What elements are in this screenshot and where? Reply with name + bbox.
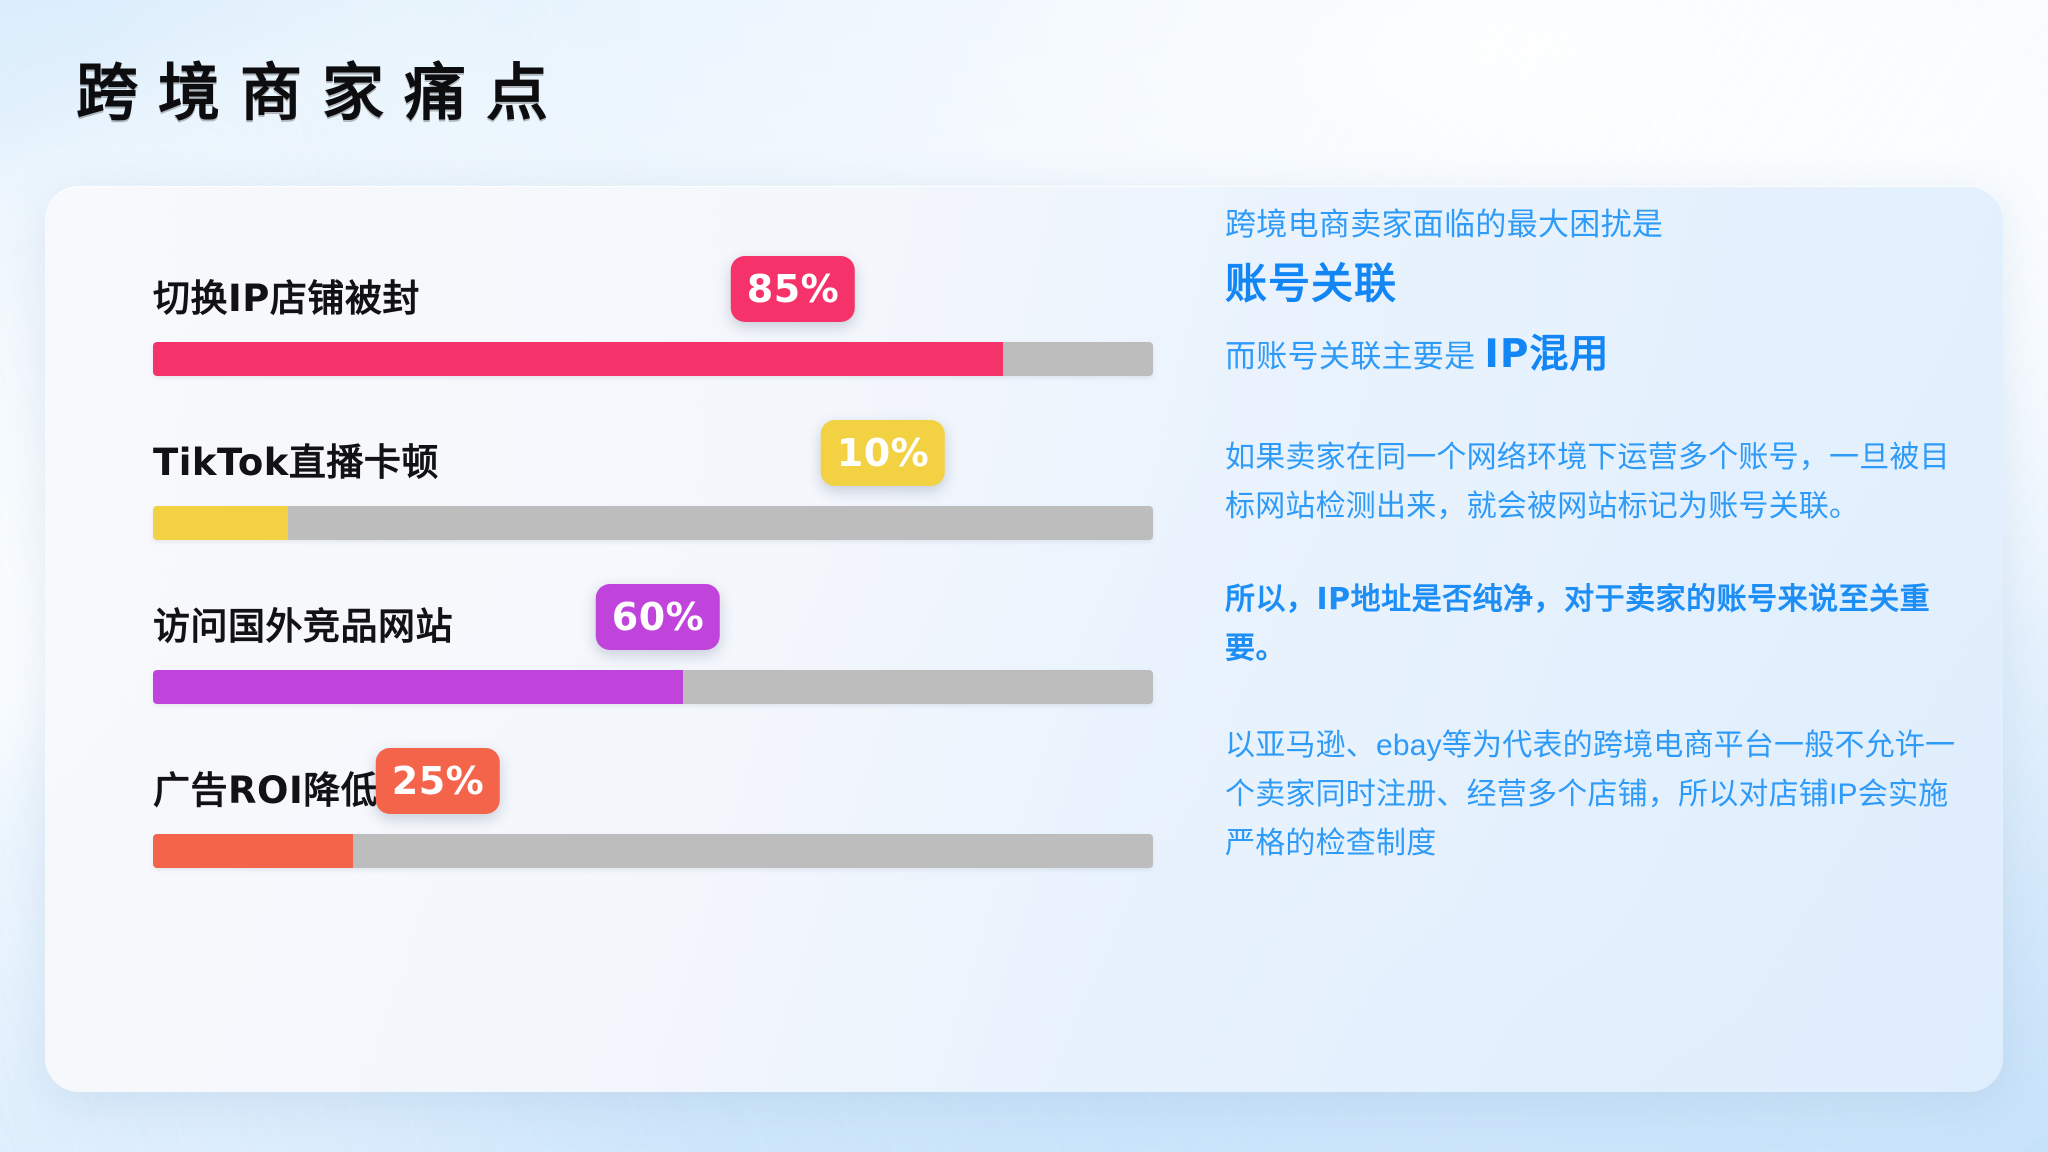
explanation-text-panel: 跨境电商卖家面临的最大困扰是 账号关联 而账号关联主要是 IP混用 如果卖家在同…	[1225, 204, 1965, 1064]
bar-group: 访问国外竞品网站60%	[108, 580, 1170, 730]
bar-value-badge: 10%	[821, 420, 945, 486]
paragraph-3: 以亚马逊、ebay等为代表的跨境电商平台一般不允许一个卖家同时注册、经营多个店铺…	[1225, 722, 1965, 869]
bar-header: 广告ROI降低25%	[108, 744, 1170, 824]
bar-track	[153, 834, 1153, 868]
bar-fill	[153, 834, 353, 868]
bar-fill	[153, 670, 683, 704]
bar-track	[153, 506, 1153, 540]
bar-group: 广告ROI降低25%	[108, 744, 1170, 894]
bar-label: TikTok直播卡顿	[153, 432, 439, 486]
bar-group: 切换IP店铺被封85%	[108, 252, 1170, 402]
bar-label: 广告ROI降低	[153, 760, 378, 814]
bar-group: TikTok直播卡顿10%	[108, 416, 1170, 566]
lead-strong-heading: 账号关联	[1225, 254, 1965, 314]
paragraph-1: 如果卖家在同一个网络环境下运营多个账号，一旦被目标网站检测出来，就会被网站标记为…	[1225, 434, 1965, 532]
bar-header: 访问国外竞品网站60%	[108, 580, 1170, 660]
lead-mixed-prefix: 而账号关联主要是	[1225, 339, 1475, 374]
bar-value-badge: 85%	[731, 256, 855, 322]
content-card: 切换IP店铺被封85%TikTok直播卡顿10%访问国外竞品网站60%广告ROI…	[45, 186, 2003, 1092]
bar-value-badge: 60%	[596, 584, 720, 650]
lead-mixed-line: 而账号关联主要是 IP混用	[1225, 326, 1965, 385]
paragraph-2: 所以，IP地址是否纯净，对于卖家的账号来说至关重要。	[1225, 576, 1965, 674]
bar-track	[153, 670, 1153, 704]
bar-header: TikTok直播卡顿10%	[108, 416, 1170, 496]
bar-label: 访问国外竞品网站	[153, 596, 453, 650]
bar-label: 切换IP店铺被封	[153, 268, 420, 322]
bar-fill	[153, 342, 1003, 376]
page-title: 跨境商家痛点	[76, 62, 568, 124]
bar-track	[153, 342, 1153, 376]
lead-line: 跨境电商卖家面临的最大困扰是	[1225, 204, 1965, 246]
bar-fill	[153, 506, 288, 540]
lead-mixed-highlight: IP混用	[1484, 332, 1609, 377]
bar-value-badge: 25%	[376, 748, 500, 814]
pain-point-bar-chart: 切换IP店铺被封85%TikTok直播卡顿10%访问国外竞品网站60%广告ROI…	[108, 218, 1170, 1060]
slide-root: 跨境商家痛点 切换IP店铺被封85%TikTok直播卡顿10%访问国外竞品网站6…	[0, 0, 2048, 1152]
bar-header: 切换IP店铺被封85%	[108, 252, 1170, 332]
